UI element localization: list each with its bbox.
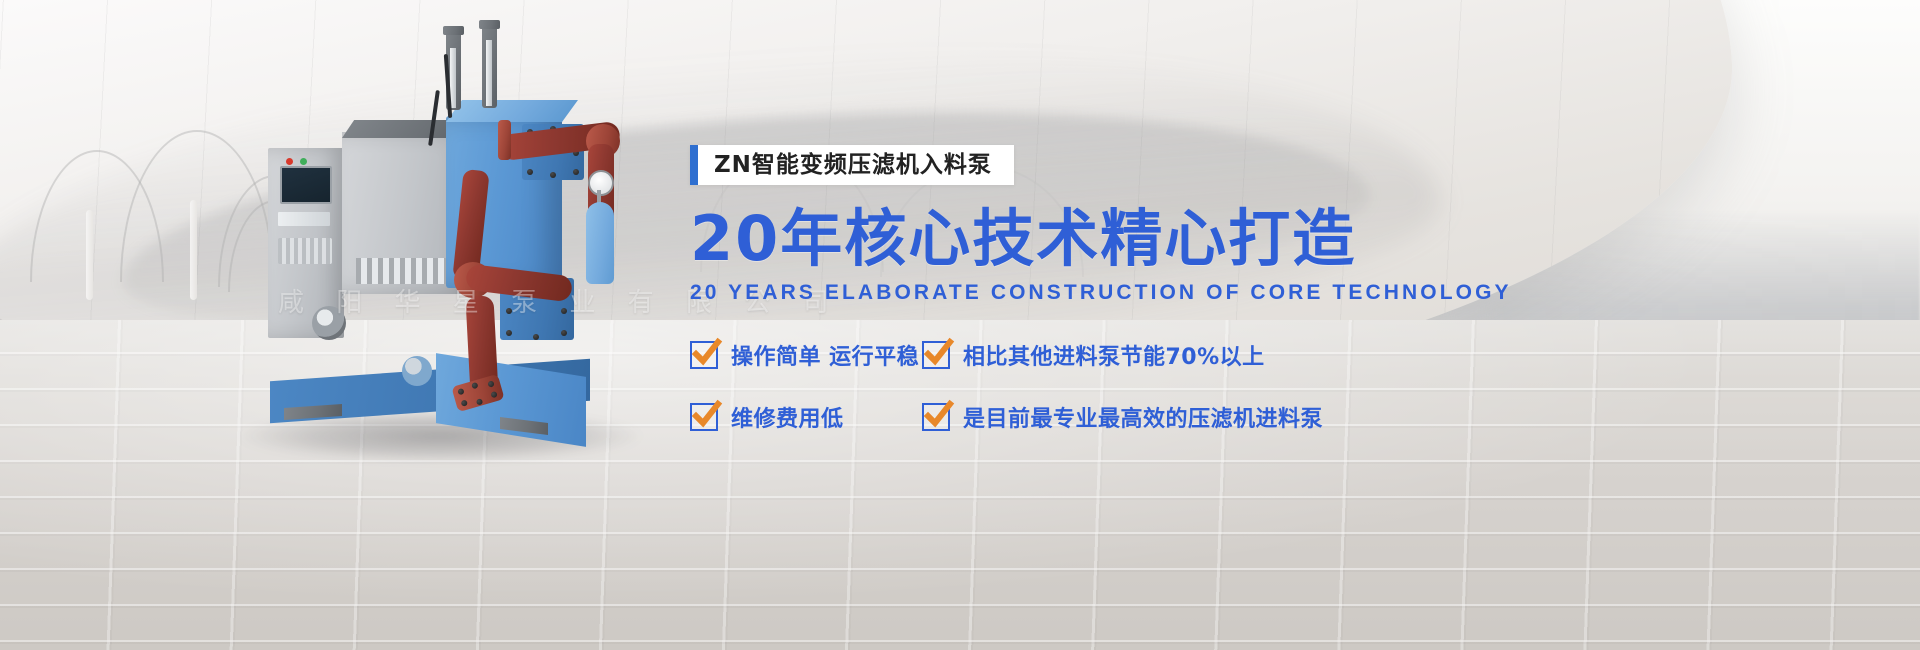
- feature-item-4: 是目前最专业最高效的压滤机进料泵: [922, 401, 1330, 433]
- product-side-flange-2: [402, 356, 432, 386]
- checkbox-checked-icon: [690, 403, 718, 431]
- hero-banner: 咸 阳 华 星 泵 业 有 限 公 司 ZN智能变频压滤机入料泵 20年核心技术…: [0, 0, 1920, 650]
- product-pump-body-top: [446, 100, 578, 122]
- product-cabinet-screen: [280, 166, 332, 204]
- page-subtitle: 20 YEARS ELABORATE CONSTRUCTION OF CORE …: [690, 281, 1850, 305]
- feature-label: 操作简单 运行平稳: [731, 339, 919, 371]
- feature-item-3: 维修费用低: [690, 401, 922, 433]
- product-indicator-light-green: [300, 158, 307, 165]
- background-pillar-1: [86, 210, 93, 300]
- feature-label: 是目前最专业最高效的压滤机进料泵: [963, 401, 1323, 433]
- page-title: 20年核心技术精心打造: [690, 206, 1850, 271]
- product-pipe-flange-top: [498, 120, 511, 160]
- product-cabinet-label: [278, 212, 330, 226]
- background-pillar-2: [190, 200, 197, 300]
- tag-accent-bar: [690, 145, 698, 185]
- product-name-tag: ZN智能变频压滤机入料泵: [690, 145, 1014, 185]
- product-image: [250, 20, 670, 450]
- product-air-vessel: [586, 202, 614, 284]
- checkbox-checked-icon: [922, 341, 950, 369]
- product-motor-vents: [356, 258, 460, 284]
- feature-item-2: 相比其他进料泵节能70%以上: [922, 339, 1330, 371]
- feature-item-1: 操作简单 运行平稳: [690, 339, 922, 371]
- feature-label: 维修费用低: [731, 401, 844, 433]
- product-indicator-light-red: [286, 158, 293, 165]
- checkbox-checked-icon: [922, 403, 950, 431]
- product-cylinder-cap-2: [479, 20, 500, 29]
- product-pressure-gauge: [588, 170, 614, 196]
- product-side-flange: [312, 306, 346, 340]
- tag-label: ZN智能变频压滤机入料泵: [714, 145, 992, 185]
- feature-label: 相比其他进料泵节能70%以上: [963, 339, 1265, 371]
- checkbox-checked-icon: [690, 341, 718, 369]
- product-cylinder-cap-1: [443, 26, 464, 35]
- product-cabinet-vents: [278, 238, 332, 264]
- product-cylinder-rod-2: [486, 40, 492, 106]
- banner-copy: ZN智能变频压滤机入料泵 20年核心技术精心打造 20 YEARS ELABOR…: [690, 145, 1850, 433]
- feature-list: 操作简单 运行平稳 相比其他进料泵节能70%以上 维修费用低: [690, 339, 1330, 433]
